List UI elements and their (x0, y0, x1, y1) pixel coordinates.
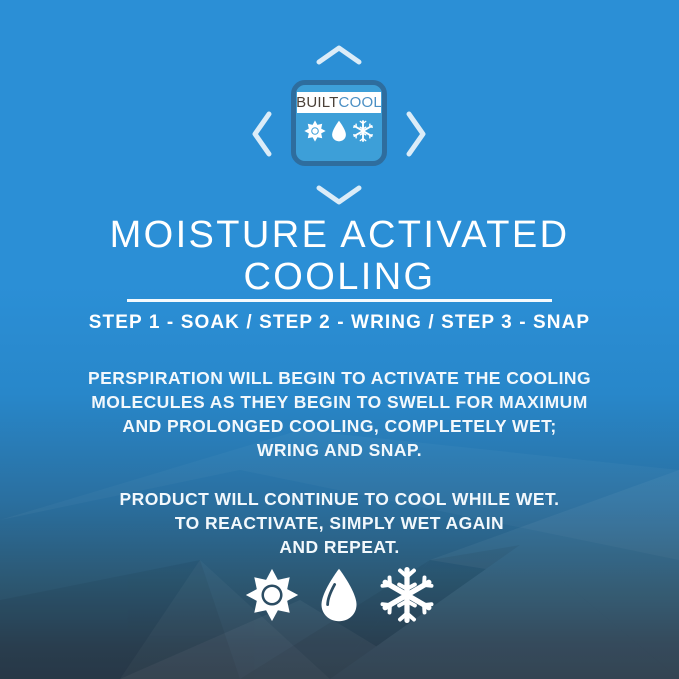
feature-icon-row (0, 567, 679, 623)
sun-icon (245, 568, 299, 622)
product-info-poster: BUILTCOOL (0, 0, 679, 679)
divider (127, 299, 552, 302)
wordmark-built: BUILT (296, 95, 338, 110)
body-paragraph-1: PERSPIRATION WILL BEGIN TO ACTIVATE THE … (0, 366, 679, 462)
droplet-icon (329, 120, 349, 142)
wordmark-cool: COOL (339, 95, 382, 110)
chevron-left-icon[interactable] (250, 110, 274, 158)
chevron-up-icon[interactable] (315, 43, 363, 67)
droplet-icon (315, 567, 363, 623)
steps-line: STEP 1 - SOAK / STEP 2 - WRING / STEP 3 … (0, 311, 679, 335)
brand-badge[interactable]: BUILTCOOL (291, 80, 387, 166)
snowflake-icon (379, 567, 435, 623)
brand-wordmark: BUILTCOOL (297, 92, 381, 113)
chevron-down-icon[interactable] (315, 183, 363, 207)
body-paragraph-2: PRODUCT WILL CONTINUE TO COOL WHILE WET.… (0, 487, 679, 559)
page-title: MOISTURE ACTIVATED COOLING (0, 214, 679, 298)
sun-icon (304, 120, 326, 142)
chevron-right-icon[interactable] (404, 110, 428, 158)
badge-icon-row (304, 120, 374, 142)
snowflake-icon (352, 120, 374, 142)
